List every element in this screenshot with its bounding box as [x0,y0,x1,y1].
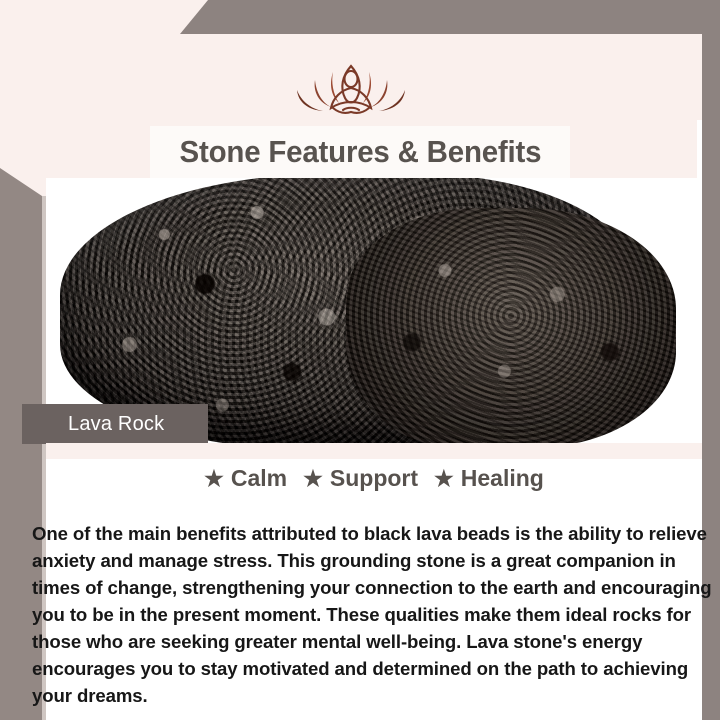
keyword-label: Healing [461,465,544,492]
benefits-description: One of the main benefits attributed to b… [32,520,720,709]
keyword-label: Calm [231,465,287,492]
lava-rock-mass-secondary [346,208,676,443]
frame-top-band [0,0,720,34]
stone-name-label: Lava Rock [68,413,164,436]
lotus-meditation-figure-icon [271,60,431,122]
infographic-card: BUDDHA STONES Stone Features & Benefits … [0,0,720,720]
cream-divider-strip [46,443,702,459]
stone-name-bar: Lava Rock [22,404,208,444]
keyword-item-healing: ★ Healing [434,465,544,492]
star-icon: ★ [303,468,323,490]
benefits-section: ★ Calm ★ Support ★ Healing One of the ma… [46,443,702,720]
page-title: Stone Features & Benefits [179,134,541,170]
brand-header: BUDDHA STONES [0,34,702,120]
title-banner: Stone Features & Benefits [150,126,570,178]
keyword-label: Support [330,465,418,492]
keyword-item-support: ★ Support [303,465,418,492]
star-icon: ★ [204,468,224,490]
star-icon: ★ [434,468,454,490]
keyword-item-calm: ★ Calm [204,465,287,492]
keyword-list: ★ Calm ★ Support ★ Healing [46,465,702,492]
